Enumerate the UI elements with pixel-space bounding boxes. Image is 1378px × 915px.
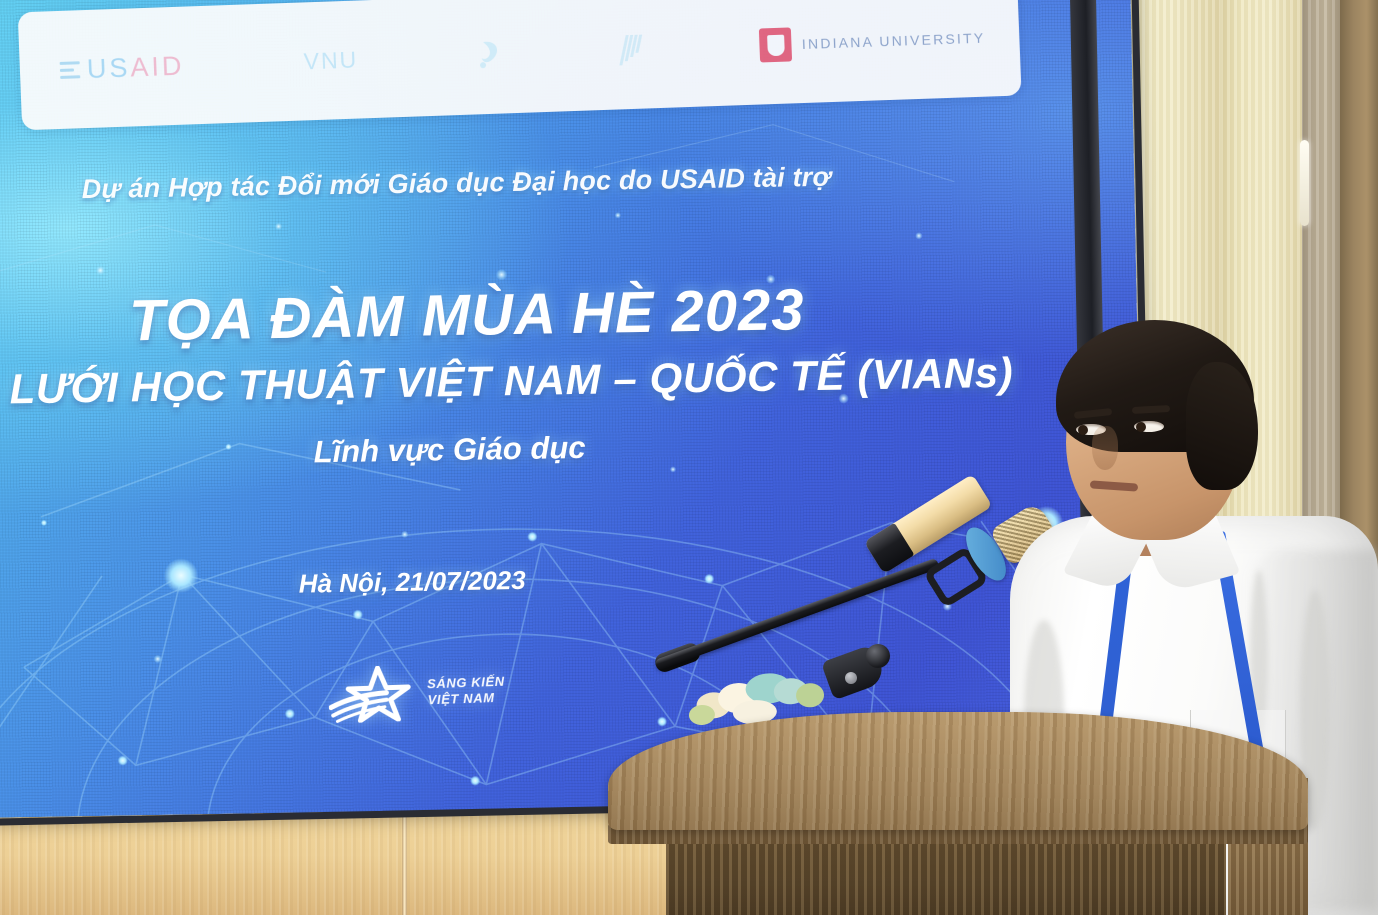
wooden-podium bbox=[608, 712, 1308, 915]
partner-lines-logo bbox=[622, 35, 641, 66]
sang-kien-viet-nam-logo: SÁNG KIẾN VIỆT NAM bbox=[327, 662, 506, 724]
lines-icon bbox=[622, 35, 641, 66]
nose bbox=[1092, 426, 1118, 470]
conference-photo-scene: USAID VNU INDIANA UNIVERSITY Dự án Hợp t… bbox=[0, 0, 1378, 915]
usaid-mark-icon bbox=[60, 61, 81, 79]
pupil-right bbox=[1136, 422, 1146, 432]
indiana-university-logo: INDIANA UNIVERSITY bbox=[759, 21, 986, 63]
usaid-logo-aid: AID bbox=[130, 50, 185, 82]
indiana-university-label: INDIANA UNIVERSITY bbox=[802, 30, 986, 52]
star-swoosh-icon bbox=[327, 665, 417, 724]
led-presentation-screen: USAID VNU INDIANA UNIVERSITY Dự án Hợp t… bbox=[0, 0, 1147, 818]
usaid-logo-us: US bbox=[86, 52, 131, 83]
event-title: TỌA ĐÀM MÙA HÈ 2023 bbox=[36, 275, 897, 356]
pupil-left bbox=[1078, 425, 1088, 435]
skvn-line-2: VIỆT NAM bbox=[427, 690, 505, 709]
partner-swoosh-logo bbox=[477, 37, 504, 72]
swoosh-icon bbox=[477, 37, 504, 72]
iu-trident-icon bbox=[759, 27, 792, 62]
vnu-logo: VNU bbox=[303, 46, 359, 75]
usaid-logo: USAID bbox=[59, 50, 185, 85]
vnu-logo-text: VNU bbox=[303, 46, 359, 75]
wall-light-strip bbox=[1300, 140, 1309, 226]
